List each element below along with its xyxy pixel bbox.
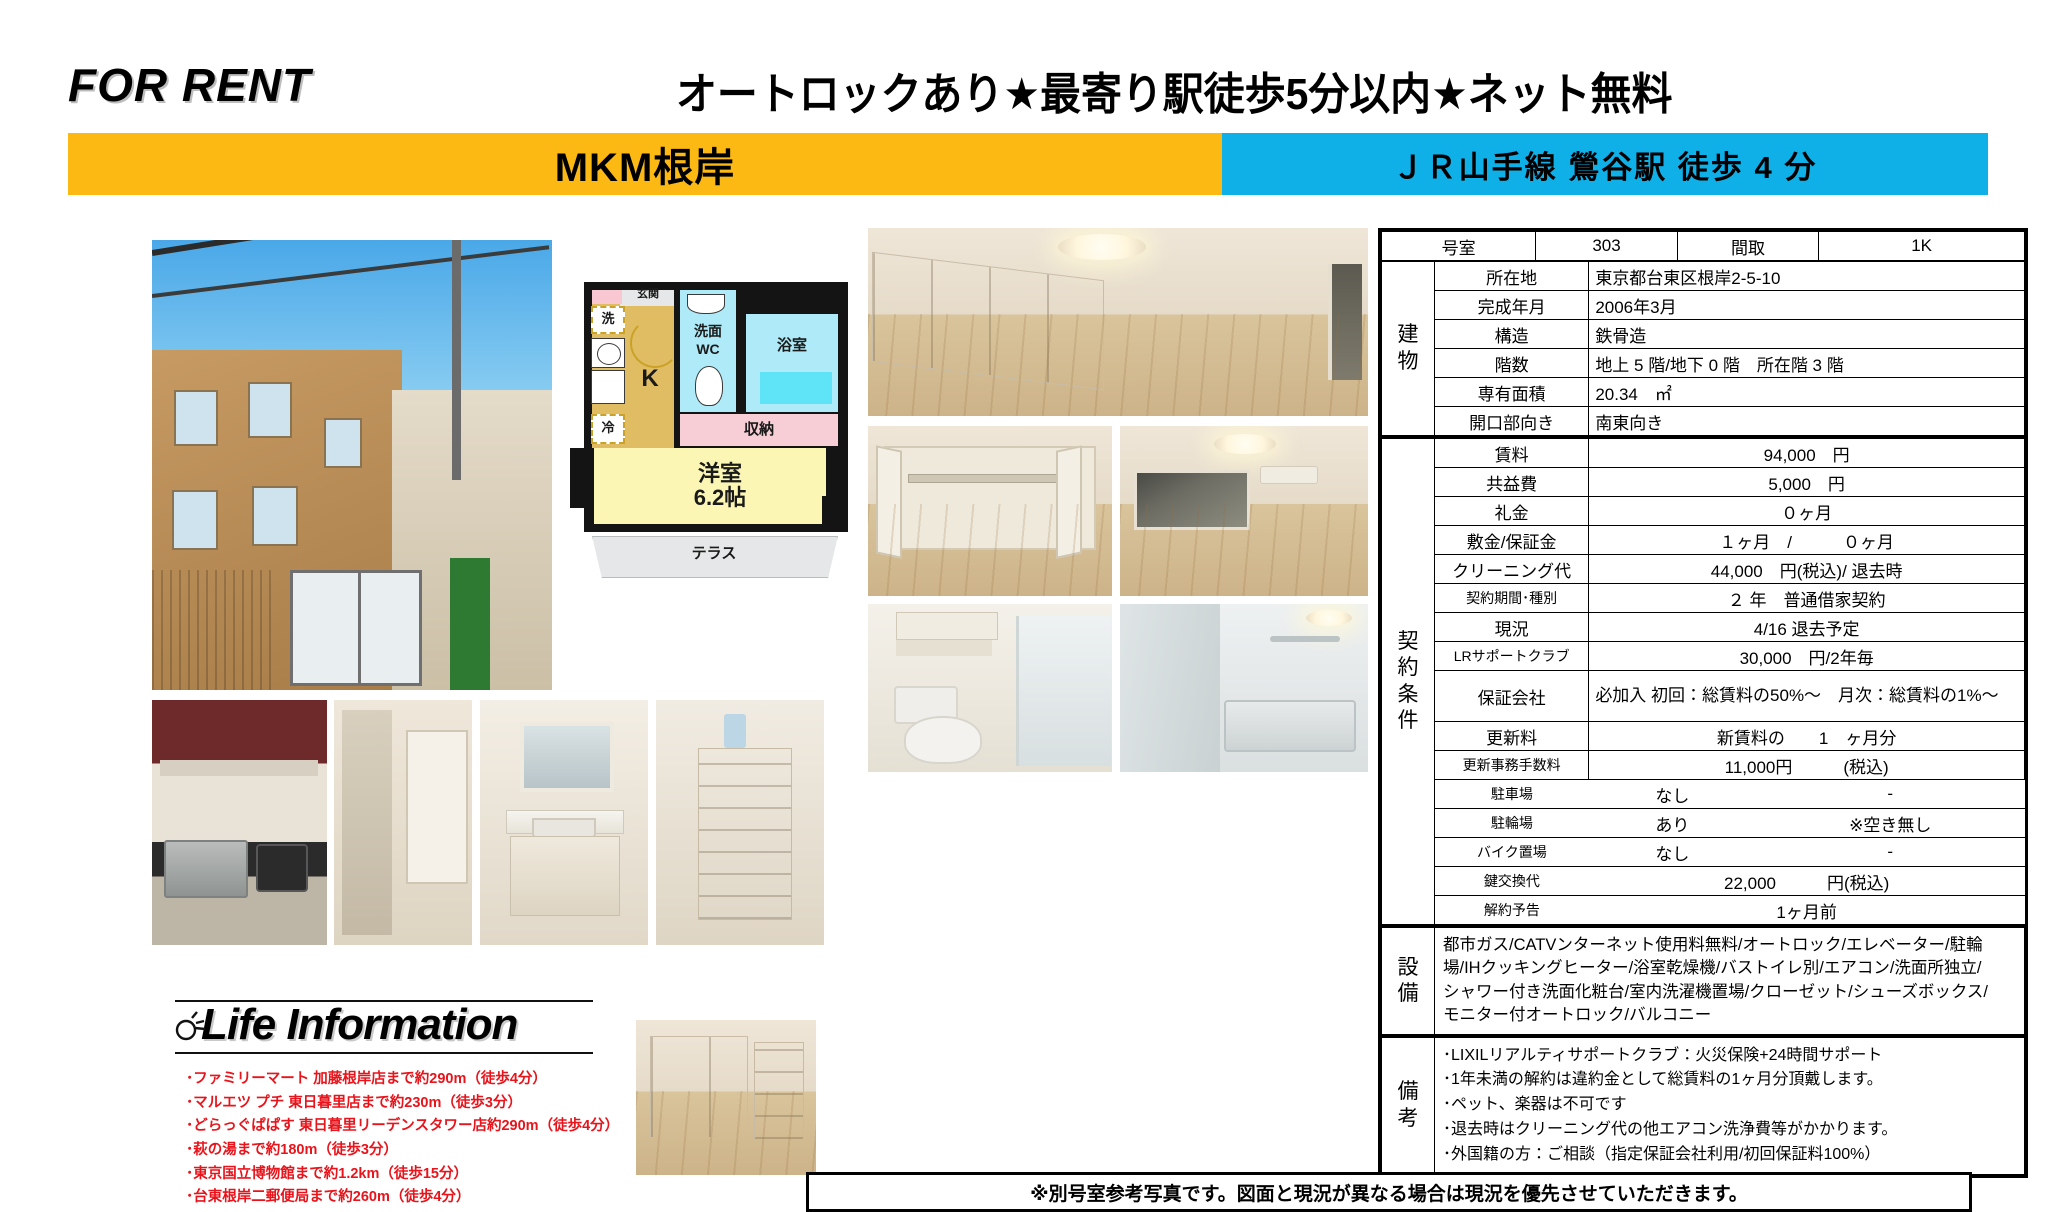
remarks-line: ･外国籍の方：ご相談（指定保証会社利用/初回保証料100%）: [1443, 1143, 2016, 1168]
contract-row-label: 共益費: [1435, 468, 1589, 497]
table-row: 契約期間･種別 ２ 年 普通借家契約: [1382, 584, 2025, 613]
building-row-label: 専有面積: [1435, 378, 1589, 407]
contract-row-value: ０ヶ月: [1589, 497, 2025, 526]
building-row-label: 階数: [1435, 349, 1589, 378]
photo-exterior-building: [152, 240, 552, 690]
footer-disclaimer: ※別号室参考写真です。図面と現況が異なる場合は現況を優先させていただきます。: [806, 1172, 1972, 1212]
equipment-table: 設備 都市ガス/CATVンターネット使用料無料/オートロック/エレベーター/駐輪…: [1381, 925, 2025, 1035]
building-row-value: 東京都台東区根岸2-5-10: [1589, 262, 2025, 291]
contract-sub-value: なし: [1589, 838, 1756, 867]
equipment-line: モニター付オートロック/バルコニー: [1443, 1004, 2016, 1027]
for-rent-heading: FOR RENT: [68, 58, 311, 112]
building-row-value: 鉄骨造: [1589, 320, 2025, 349]
list-item: ･台東根岸二郵便局まで約260m（徒歩4分）: [186, 1186, 706, 1210]
life-info-rule-bottom: [175, 1052, 593, 1054]
fp-label-closet: 収納: [680, 422, 838, 438]
building-row-label: 所在地: [1435, 262, 1589, 291]
contract-sub-note: ※空き無し: [1756, 809, 2025, 838]
table-row: 更新事務手数料 11,000円 (税込): [1382, 751, 2025, 780]
contract-row-value: 必加入 初回：総賃料の50%～ 月次：総賃料の1%～: [1589, 671, 2025, 722]
remarks-line: ･1年未満の解約は違約金として総賃料の1ヶ月分頂戴します。: [1443, 1068, 2016, 1093]
photo-washbasin-vanity: [480, 700, 648, 945]
table-row: 専有面積 20.34 ㎡: [1382, 378, 2025, 407]
table-row: バイク置場 なし -: [1382, 838, 2025, 867]
contract-category: 契約条件: [1382, 438, 1435, 925]
fp-label-entrance: 玄関: [620, 289, 676, 301]
table-row: 備考 ･LIXILリアルティサポートクラブ：火災保険+24時間サポート ･1年未…: [1382, 1036, 2025, 1174]
contract-sub-value: 1ヶ月前: [1589, 896, 2025, 925]
table-row: 開口部向き 南東向き: [1382, 407, 2025, 436]
contract-row-value: 4/16 退去予定: [1589, 613, 2025, 642]
fp-label-terrace: テラス: [592, 546, 836, 562]
table-row: 敷金/保証金 １ヶ月 / ０ヶ月: [1382, 526, 2025, 555]
table-row: 礼金 ０ヶ月: [1382, 497, 2025, 526]
title-banner: MKM根岸 ＪＲ山手線 鶯谷駅 徒歩 4 分: [68, 133, 1988, 195]
contract-row-label: 契約期間･種別: [1435, 584, 1589, 613]
building-table: 建物 所在地 東京都台東区根岸2-5-10 完成年月 2006年3月 構造 鉄骨…: [1381, 261, 2025, 436]
remarks-line: ･ペット、楽器は不可です: [1443, 1093, 2016, 1118]
table-row: 号室 303 間取 1K: [1382, 232, 2025, 261]
contract-row-value: 44,000 円(税込)/ 退去時: [1589, 555, 2025, 584]
table-row: 駐輪場 あり ※空き無し: [1382, 809, 2025, 838]
equipment-category: 設備: [1382, 927, 1435, 1035]
building-row-label: 構造: [1435, 320, 1589, 349]
contract-row-label: クリーニング代: [1435, 555, 1589, 584]
building-row-label: 開口部向き: [1435, 407, 1589, 436]
lightbulb-icon: [175, 1004, 209, 1044]
table-row: 駐車場 なし -: [1382, 780, 2025, 809]
life-information-header: Life Information: [175, 1000, 595, 1050]
remarks-list: ･LIXILリアルティサポートクラブ：火災保険+24時間サポート ･1年未満の解…: [1435, 1036, 2025, 1174]
building-category: 建物: [1382, 262, 1435, 436]
fp-label-washer: 洗: [591, 312, 625, 326]
fp-label-room-size: 6.2帖: [630, 486, 810, 509]
building-row-value: 南東向き: [1589, 407, 2025, 436]
building-name-text: MKM根岸: [555, 135, 736, 193]
contract-sub-label: 解約予告: [1435, 896, 1589, 925]
remarks-line: ･退去時はクリーニング代の他エアコン洗浄費等がかかります。: [1443, 1118, 2016, 1143]
contract-row-value: 11,000円 (税込): [1589, 751, 2025, 780]
list-item: ･どらっぐぱぱす 東日暮里リーデンスタワー店約290m（徒歩4分）: [186, 1115, 706, 1139]
layout-value: 1K: [1819, 232, 2025, 261]
contract-row-label: 賃料: [1435, 438, 1589, 468]
building-row-value: 20.34 ㎡: [1589, 378, 2025, 407]
remarks-category: 備考: [1382, 1036, 1435, 1174]
contract-row-label: 保証会社: [1435, 671, 1589, 722]
contract-sub-label: バイク置場: [1435, 838, 1589, 867]
room-no-label: 号室: [1382, 232, 1536, 261]
building-name-banner: MKM根岸: [68, 133, 1222, 195]
contract-row-label: 礼金: [1435, 497, 1589, 526]
contract-row-value: １ヶ月 / ０ヶ月: [1589, 526, 2025, 555]
photo-shoe-box: [656, 700, 824, 945]
table-row: 契約条件 賃料 94,000 円: [1382, 438, 2025, 468]
list-item: ･ファミリーマート 加藤根岸店まで約290m（徒歩4分）: [186, 1068, 706, 1092]
table-row: 完成年月 2006年3月: [1382, 291, 2025, 320]
table-row: 建物 所在地 東京都台東区根岸2-5-10: [1382, 262, 2025, 291]
fp-label-fridge: 冷: [591, 421, 625, 435]
property-spec-tables: 号室 303 間取 1K 建物 所在地 東京都台東区根岸2-5-10 完成年月 …: [1378, 228, 2028, 1178]
fp-label-bathroom: 浴室: [746, 338, 838, 354]
life-information-list: ･ファミリーマート 加藤根岸店まで約290m（徒歩4分） ･マルエツ プチ 東日…: [186, 1068, 706, 1210]
fp-label-room: 洋室: [630, 462, 810, 485]
contract-row-value: 94,000 円: [1589, 438, 2025, 468]
station-access-text: ＪＲ山手線 鶯谷駅 徒歩 4 分: [1393, 142, 1818, 187]
floor-plan-terrace: テラス: [570, 530, 862, 584]
equipment-line: シャワー付き洗面化粧台/室内洗濯機置場/クローゼット/シューズボックス/: [1443, 981, 2016, 1004]
contract-row-value: 30,000 円/2年毎: [1589, 642, 2025, 671]
room-no-value: 303: [1536, 232, 1677, 261]
contract-row-label: LRサポートクラブ: [1435, 642, 1589, 671]
unit-header-table: 号室 303 間取 1K: [1381, 231, 2025, 261]
table-row: 保証会社 必加入 初回：総賃料の50%～ 月次：総賃料の1%～: [1382, 671, 2025, 722]
building-row-value: 地上 5 階/地下 0 階 所在階 3 階: [1589, 349, 2025, 378]
station-access-banner: ＪＲ山手線 鶯谷駅 徒歩 4 分: [1222, 133, 1988, 195]
layout-label: 間取: [1677, 232, 1818, 261]
fp-label-washroom-1: 洗面: [680, 324, 736, 339]
contract-table: 契約条件 賃料 94,000 円 共益費 5,000 円 礼金 ０ヶ月 敷金/保…: [1381, 436, 2025, 925]
life-information-title: Life Information: [201, 1000, 517, 1050]
list-item: ･東京国立博物館まで約1.2km（徒歩15分）: [186, 1163, 706, 1187]
contract-sub-note: -: [1756, 780, 2025, 809]
photo-living-room-closets: [868, 228, 1368, 416]
contract-sub-value: あり: [1589, 809, 1756, 838]
contract-sub-label: 駐車場: [1435, 780, 1589, 809]
photo-closet-open: [868, 426, 1112, 596]
fp-label-washroom-2: WC: [680, 342, 736, 357]
contract-row-label: 敷金/保証金: [1435, 526, 1589, 555]
photo-bathroom: [1120, 604, 1368, 772]
table-row: 現況 4/16 退去予定: [1382, 613, 2025, 642]
list-item: ･萩の湯まで約180m（徒歩3分）: [186, 1139, 706, 1163]
photo-living-room-window: [1120, 426, 1368, 596]
list-item: ･マルエツ プチ 東日暮里店まで約230m（徒歩3分）: [186, 1092, 706, 1116]
contract-row-label: 現況: [1435, 613, 1589, 642]
table-row: クリーニング代 44,000 円(税込)/ 退去時: [1382, 555, 2025, 584]
contract-sub-note: -: [1756, 838, 2025, 867]
table-row: LRサポートクラブ 30,000 円/2年毎: [1382, 642, 2025, 671]
table-row: 階数 地上 5 階/地下 0 階 所在階 3 階: [1382, 349, 2025, 378]
remarks-table: 備考 ･LIXILリアルティサポートクラブ：火災保険+24時間サポート ･1年未…: [1381, 1035, 2025, 1175]
equipment-line: 都市ガス/CATVンターネット使用料無料/オートロック/エレベーター/駐輪: [1443, 934, 2016, 957]
remarks-line: ･LIXILリアルティサポートクラブ：火災保険+24時間サポート: [1443, 1044, 2016, 1069]
contract-sub-value: 22,000 円(税込): [1589, 867, 2025, 896]
contract-sub-label: 駐輪場: [1435, 809, 1589, 838]
table-row: 鍵交換代 22,000 円(税込): [1382, 867, 2025, 896]
contract-row-value: 新賃料の 1 ヶ月分: [1589, 722, 2025, 751]
photo-kitchen: [152, 700, 327, 945]
contract-row-value: ２ 年 普通借家契約: [1589, 584, 2025, 613]
photo-entrance-corridor: [334, 700, 472, 945]
equipment-list: 都市ガス/CATVンターネット使用料無料/オートロック/エレベーター/駐輪 場/…: [1435, 927, 2025, 1035]
equipment-line: 場/IHクッキングヒーター/浴室乾燥機/バストイレ別/エアコン/洗面所独立/: [1443, 957, 2016, 980]
contract-row-label: 更新料: [1435, 722, 1589, 751]
table-row: 更新料 新賃料の 1 ヶ月分: [1382, 722, 2025, 751]
table-row: 解約予告 1ヶ月前: [1382, 896, 2025, 925]
building-row-label: 完成年月: [1435, 291, 1589, 320]
contract-row-value: 5,000 円: [1589, 468, 2025, 497]
contract-row-label: 更新事務手数料: [1435, 751, 1589, 780]
contract-sub-value: なし: [1589, 780, 1756, 809]
building-row-value: 2006年3月: [1589, 291, 2025, 320]
photo-toilet: [868, 604, 1112, 772]
table-row: 共益費 5,000 円: [1382, 468, 2025, 497]
table-row: 設備 都市ガス/CATVンターネット使用料無料/オートロック/エレベーター/駐輪…: [1382, 927, 2025, 1035]
promo-tagline: オートロックあり★最寄り駅徒歩5分以内★ネット無料: [676, 58, 1672, 122]
table-row: 構造 鉄骨造: [1382, 320, 2025, 349]
contract-sub-label: 鍵交換代: [1435, 867, 1589, 896]
fp-label-kitchen: K: [628, 366, 672, 391]
